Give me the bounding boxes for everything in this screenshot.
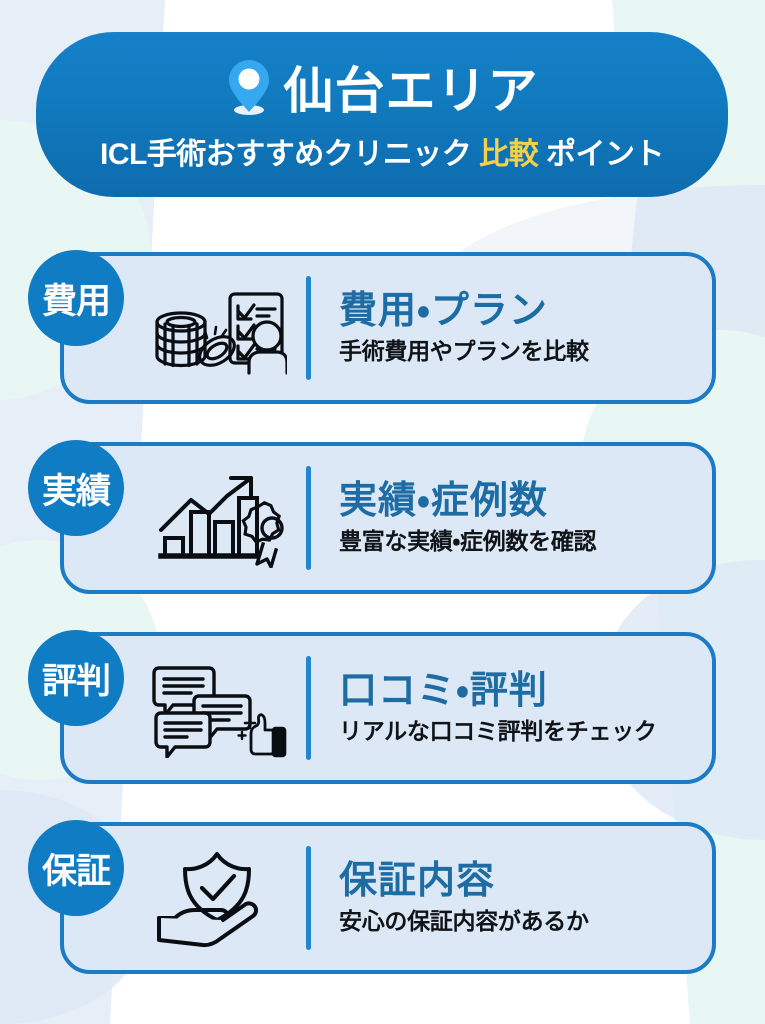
card-cost[interactable]: 費用・プラン 手術費用やプランを比較 [60,252,716,404]
card-title: 口コミ・評判 [339,672,657,712]
badge-reviews: 評判 [28,630,124,726]
header-subtitle: ICL手術おすすめクリニック 比較 ポイント [100,140,664,170]
bar-chart-award-icon [142,468,292,568]
header-subtitle-after: ポイント [538,138,664,171]
card-text: 保証内容 安心の保証内容があるか [339,862,589,934]
header-title: 仙台エリア [284,66,539,116]
card-results[interactable]: 実績・症例数 豊富な実績・症例数を確認 [60,442,716,594]
badge-results: 実績 [28,440,124,536]
coins-checklist-person-icon [142,278,292,378]
header-banner: 仙台エリア ICL手術おすすめクリニック 比較 ポイント [36,32,728,197]
card-subtitle: リアルな口コミ評判をチェック [339,719,657,744]
card-title: 費用・プラン [339,292,589,332]
card-text: 口コミ・評判 リアルな口コミ評判をチェック [339,672,657,744]
header-title-row: 仙台エリア [226,58,539,124]
speech-bubbles-thumbsup-icon [142,658,292,758]
card-divider [306,466,311,570]
header-subtitle-highlight: 比較 [479,138,538,171]
badge-warranty: 保証 [28,820,124,916]
card-divider [306,656,311,760]
card-text: 実績・症例数 豊富な実績・症例数を確認 [339,482,596,554]
card-divider [306,846,311,950]
location-pin-icon [226,58,272,118]
card-divider [306,276,311,380]
card-title: 保証内容 [339,862,589,902]
card-text: 費用・プラン 手術費用やプランを比較 [339,292,589,364]
badge-cost: 費用 [28,250,124,346]
card-subtitle: 手術費用やプランを比較 [339,339,589,364]
card-subtitle: 豊富な実績・症例数を確認 [339,529,596,554]
header-subtitle-before: ICL手術おすすめクリニック [100,138,479,171]
card-reviews[interactable]: 口コミ・評判 リアルな口コミ評判をチェック [60,632,716,784]
card-subtitle: 安心の保証内容があるか [339,909,589,934]
shield-check-hand-icon [142,848,292,948]
card-title: 実績・症例数 [339,482,596,522]
infographic-page: 仙台エリア ICL手術おすすめクリニック 比較 ポイント [0,0,765,1024]
card-warranty[interactable]: 保証内容 安心の保証内容があるか [60,822,716,974]
